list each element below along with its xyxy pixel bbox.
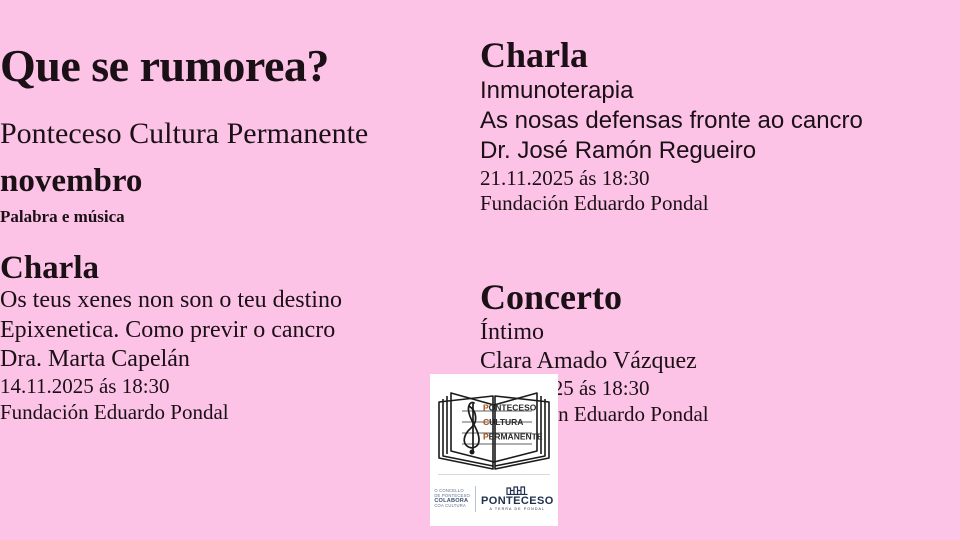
event-datetime: 21.11.2025 ás 18:30 bbox=[480, 166, 960, 192]
poster-tagline-block: Palabra e música bbox=[0, 208, 480, 227]
event-kind-label: Concerto bbox=[480, 278, 960, 318]
poster-month-block: novembro bbox=[0, 164, 480, 200]
event-speaker: Dr. José Ramón Regueiro bbox=[480, 136, 960, 166]
logo-word-1: PONTECESO bbox=[483, 403, 537, 413]
crown-battlement-icon bbox=[506, 486, 528, 495]
poster-subtitle: Ponteceso Cultura Permanente bbox=[0, 118, 480, 150]
council-collab-strip: O CONCELLO DE PONTECESO COLABORA COA CUL… bbox=[430, 475, 558, 523]
poster-subtitle-block: Ponteceso Cultura Permanente bbox=[0, 118, 480, 150]
council-collab-text: O CONCELLO DE PONTECESO COLABORA COA CUL… bbox=[434, 489, 470, 509]
logo-initial-p2: P bbox=[483, 432, 489, 442]
event-venue: Fundación Eduardo Pondal bbox=[480, 191, 960, 217]
event-speaker: Dra. Marta Capelán bbox=[0, 345, 480, 374]
logo-card: PONTECESO CULTURA PERMANENTE P C P O CON… bbox=[430, 374, 558, 526]
open-book-logo-icon: PONTECESO CULTURA PERMANENTE P C P bbox=[434, 376, 554, 472]
event-speaker: Clara Amado Vázquez bbox=[480, 347, 960, 376]
brand-tagline: A TERRA DE PONDAL bbox=[481, 507, 554, 512]
event-venue: Fundación Eduardo Pondal bbox=[0, 400, 480, 426]
collab-line-4: COA CULTURA bbox=[434, 504, 470, 509]
poster-tagline: Palabra e música bbox=[0, 208, 480, 227]
event-description-line-1: Inmunoterapia bbox=[480, 76, 960, 106]
event-kind-label: Charla bbox=[480, 36, 960, 76]
poster-title-block: Que se rumorea? bbox=[0, 42, 480, 90]
event-description-line-1: Os teus xenes non son o teu destino bbox=[0, 286, 480, 315]
logo-word-3: PERMANENTE bbox=[483, 432, 543, 442]
event-card-charla-capelan: Charla Os teus xenes non son o teu desti… bbox=[0, 250, 480, 425]
event-description-line-1: Íntimo bbox=[480, 318, 960, 347]
logo-initial-p1: P bbox=[483, 403, 489, 413]
event-description-line-2: Epixenetica. Como previr o cancro bbox=[0, 316, 480, 345]
page-title: Que se rumorea? bbox=[0, 42, 480, 90]
poster-month: novembro bbox=[0, 164, 480, 200]
logo-initial-c: C bbox=[483, 417, 489, 427]
event-description-line-2: As nosas defensas fronte ao cancro bbox=[480, 106, 960, 136]
brand-name: PONTECESO bbox=[481, 496, 554, 507]
event-datetime: 14.11.2025 ás 18:30 bbox=[0, 374, 480, 400]
collab-vertical-rule bbox=[475, 486, 476, 512]
event-kind-label: Charla bbox=[0, 250, 480, 286]
poster-canvas: Que se rumorea? Ponteceso Cultura Perman… bbox=[0, 0, 960, 540]
event-card-charla-regueiro: Charla Inmunoterapia As nosas defensas f… bbox=[480, 36, 960, 217]
ponteceso-brand-mark: PONTECESO A TERRA DE PONDAL bbox=[481, 486, 554, 512]
